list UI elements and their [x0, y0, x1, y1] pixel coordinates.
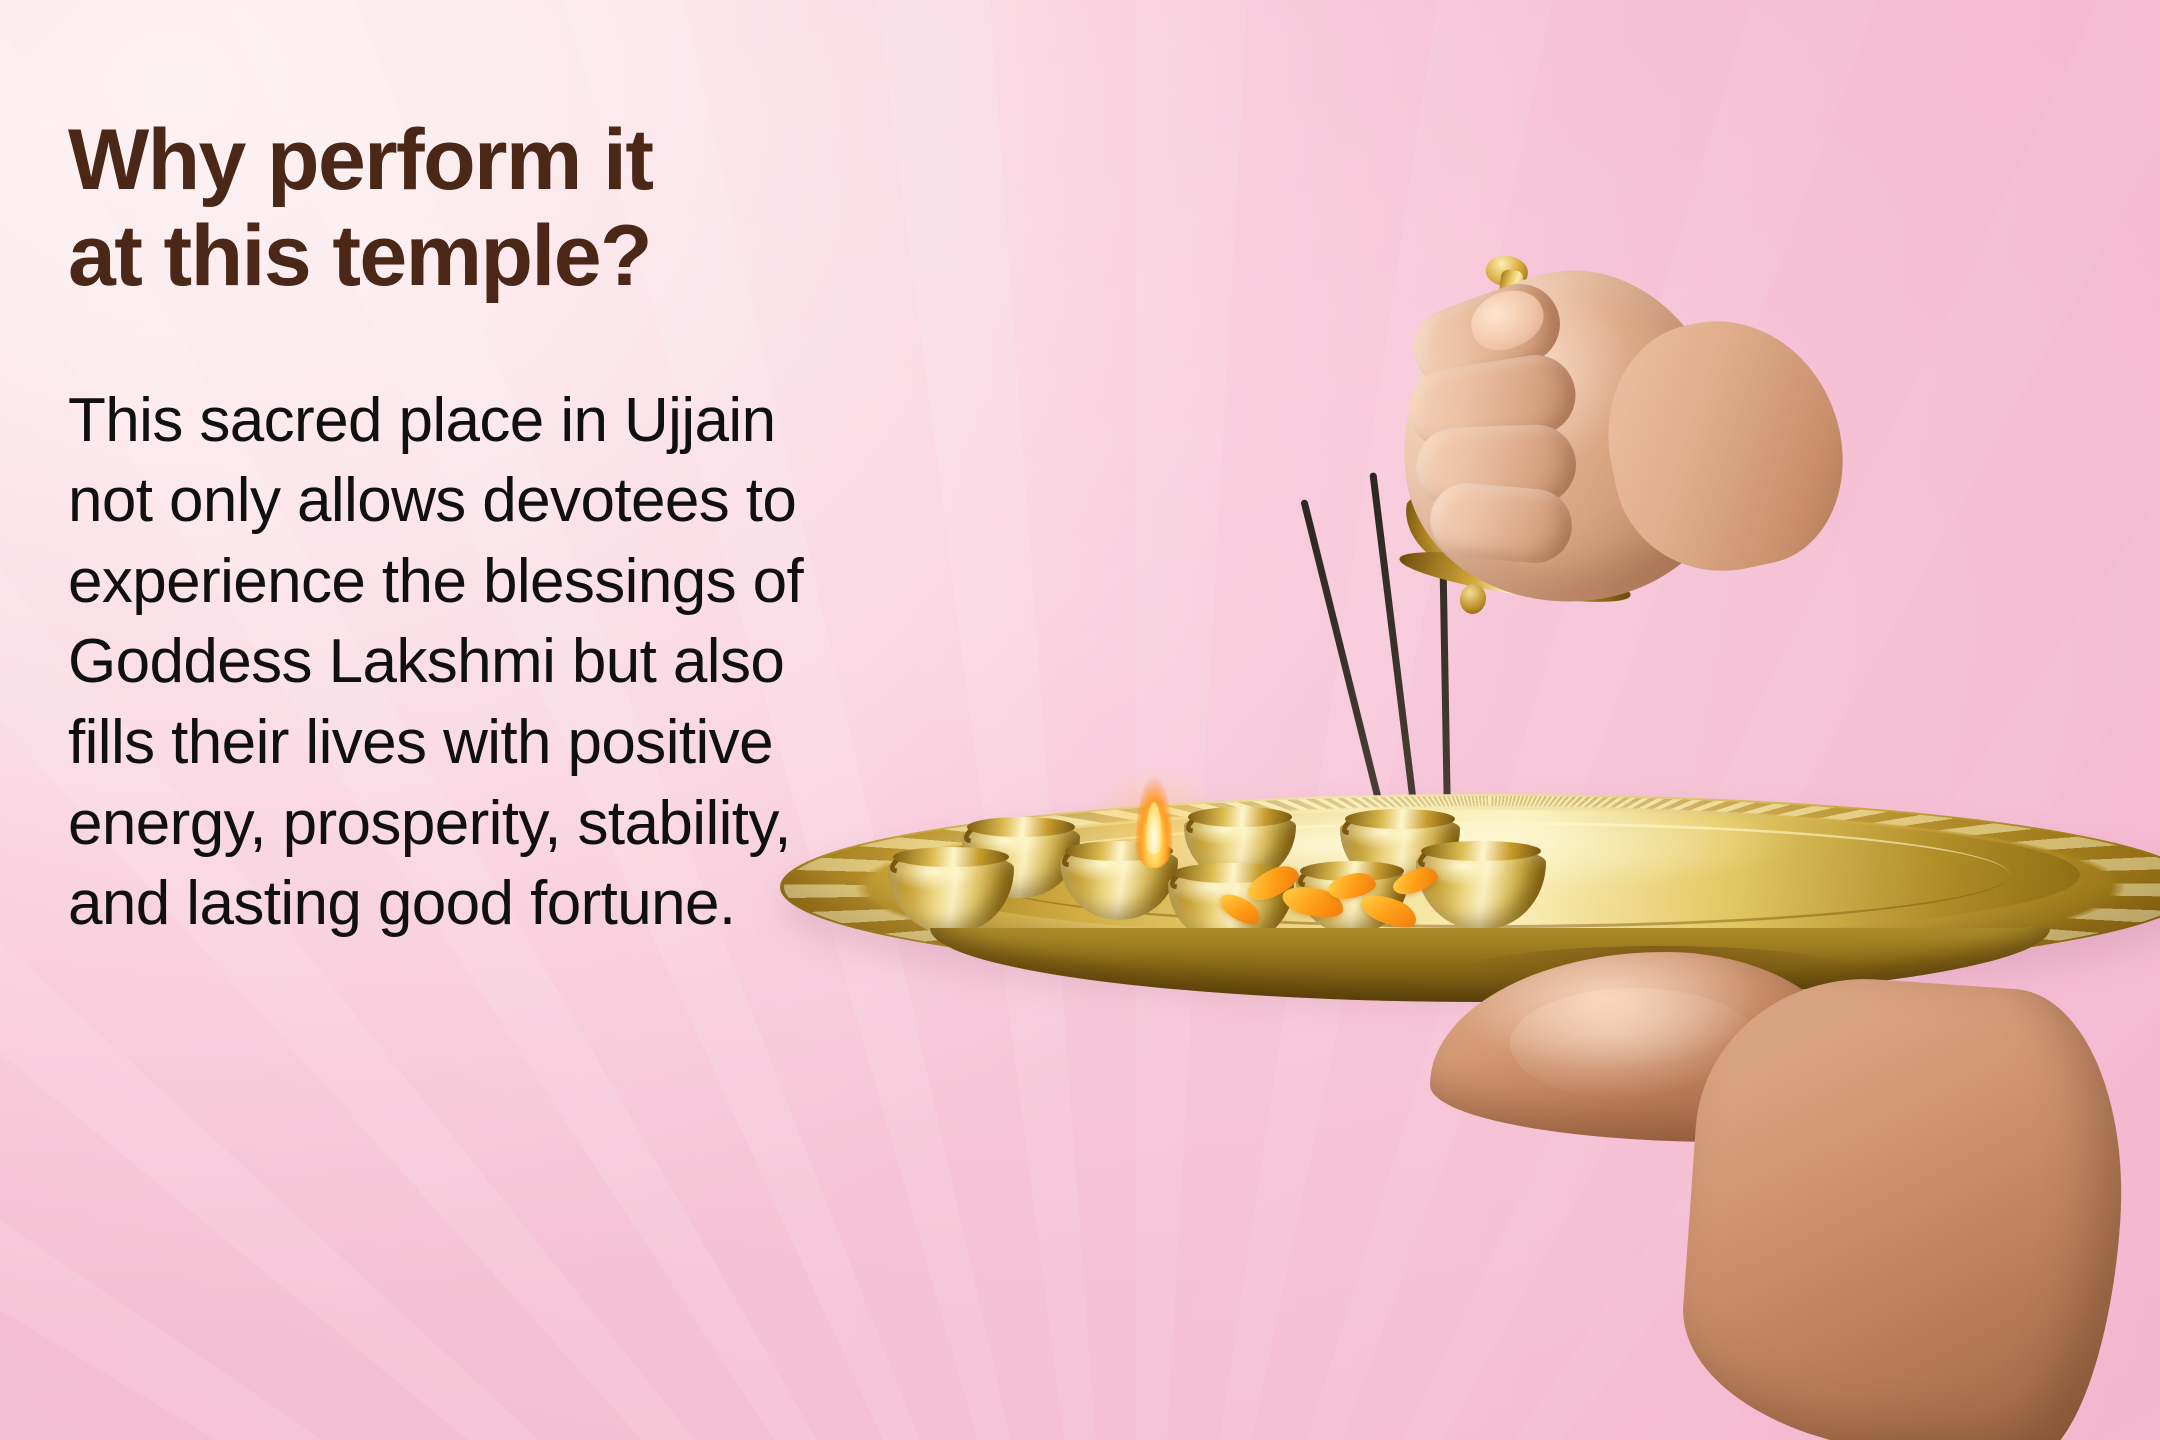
poster-canvas: Why perform it at this temple? This sacr… — [0, 0, 2160, 1440]
diya-handle — [960, 817, 994, 848]
upper-hand — [1360, 250, 1790, 680]
forearm — [1674, 968, 2136, 1440]
lower-hand — [1390, 952, 2160, 1440]
page-title: Why perform it at this temple? — [68, 112, 888, 305]
puja-photograph — [1060, 0, 2160, 1440]
body-paragraph: This sacred place in Ujjain not only all… — [68, 381, 828, 945]
text-column: Why perform it at this temple? This sacr… — [68, 112, 888, 945]
